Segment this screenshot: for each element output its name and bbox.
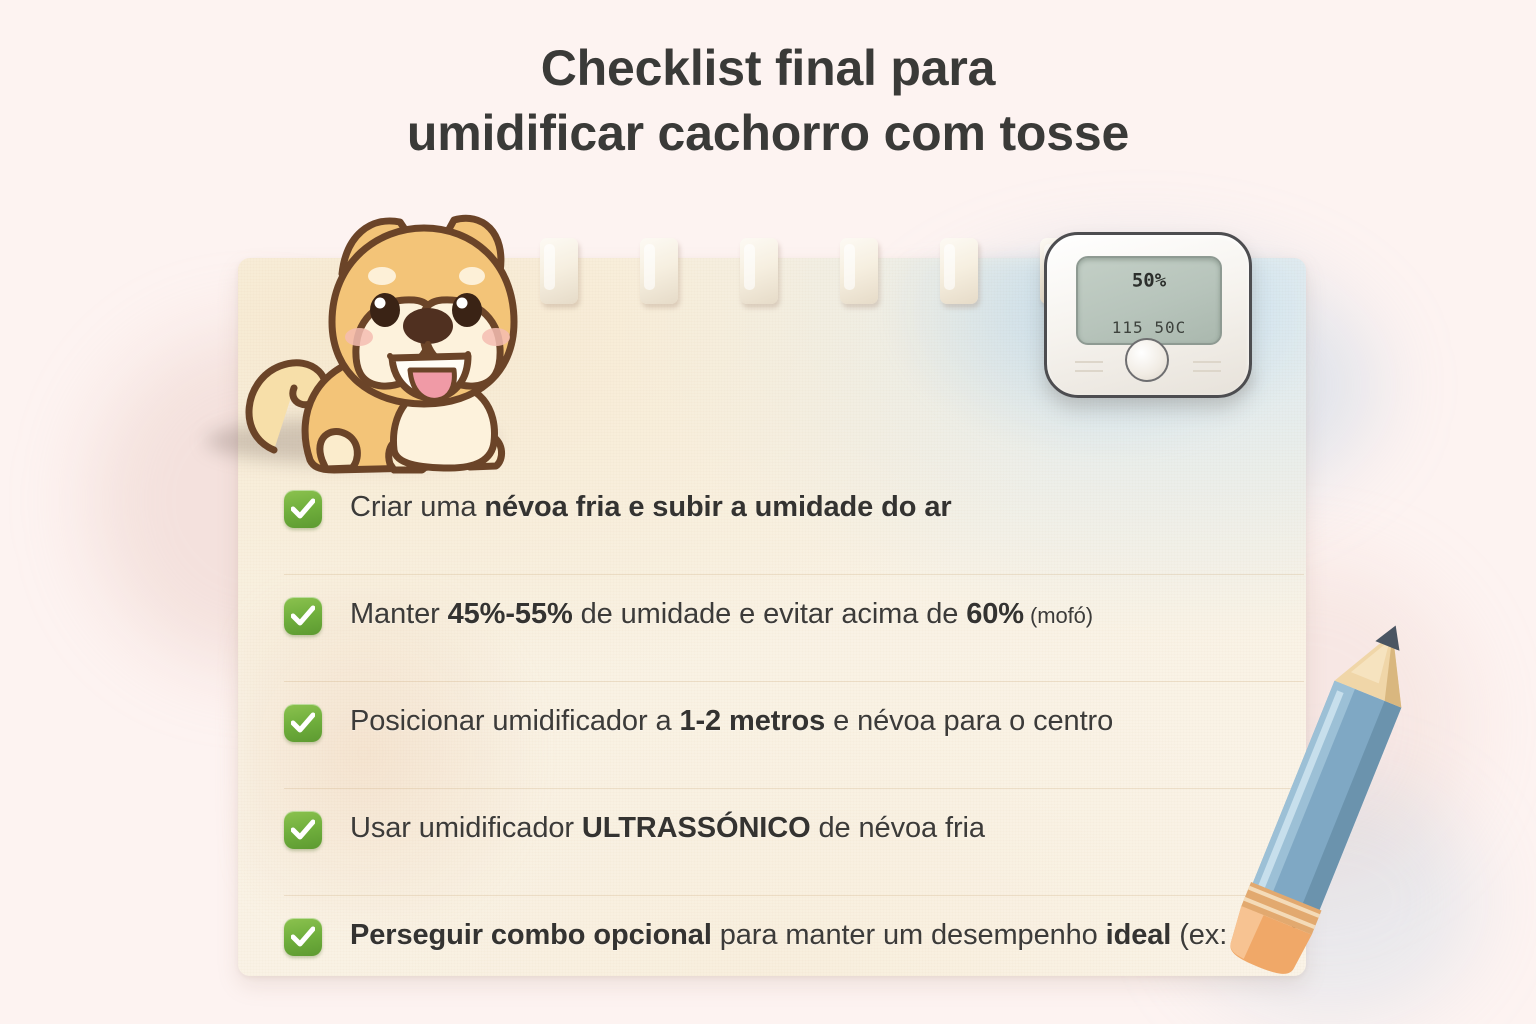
- hygrometer-vent-line: [1075, 361, 1103, 363]
- page-title: Checklist final para umidificar cachorro…: [0, 36, 1536, 166]
- spiral-ring: [740, 238, 778, 304]
- checklist-item-label: Usar umidificador ULTRASSÓNICO de névoa …: [350, 809, 1304, 848]
- hygrometer-screen: 50% 115 50C: [1076, 256, 1222, 345]
- spiral-ring: [840, 238, 878, 304]
- shiba-puppy-icon: [214, 198, 544, 488]
- hygrometer-vent-line: [1193, 370, 1221, 372]
- hygrometer-humidity-reading: 50%: [1078, 263, 1220, 311]
- spiral-ring: [940, 238, 978, 304]
- blue-pencil-icon: [1216, 612, 1436, 984]
- checklist-item[interactable]: Usar umidificador ULTRASSÓNICO de névoa …: [284, 788, 1304, 881]
- checklist-item-label: Criar uma névoa fria e subir a umidade d…: [350, 488, 1304, 527]
- checklist-item[interactable]: Perseguir combo opcional para manter um …: [284, 895, 1304, 988]
- hygrometer-button[interactable]: [1125, 338, 1169, 382]
- checklist-item[interactable]: Posicionar umidificador a 1-2 metros e n…: [284, 681, 1304, 774]
- hygrometer-vent-line: [1193, 361, 1221, 363]
- checklist-item-label: Posicionar umidificador a 1-2 metros e n…: [350, 702, 1304, 741]
- spiral-ring: [640, 238, 678, 304]
- checklist-item-label: Perseguir combo opcional para manter um …: [350, 916, 1304, 955]
- checklist-item[interactable]: Criar uma névoa fria e subir a umidade d…: [284, 486, 1304, 560]
- checkbox-checked-icon[interactable]: [284, 704, 322, 742]
- checkbox-checked-icon[interactable]: [284, 811, 322, 849]
- spiral-binding: [540, 238, 1060, 316]
- hygrometer-sub-reading: 115 50C: [1078, 318, 1220, 337]
- checklist-item-label: Manter 45%-55% de umidade e evitar acima…: [350, 595, 1304, 634]
- checklist-list: Criar uma névoa fria e subir a umidade d…: [284, 486, 1304, 988]
- checkbox-checked-icon[interactable]: [284, 597, 322, 635]
- checklist-item[interactable]: Manter 45%-55% de umidade e evitar acima…: [284, 574, 1304, 667]
- hygrometer-device: 50% 115 50C: [1044, 232, 1252, 398]
- checkbox-checked-icon[interactable]: [284, 490, 322, 528]
- spiral-ring: [540, 238, 578, 304]
- hygrometer-vent-line: [1075, 370, 1103, 372]
- checkbox-checked-icon[interactable]: [284, 918, 322, 956]
